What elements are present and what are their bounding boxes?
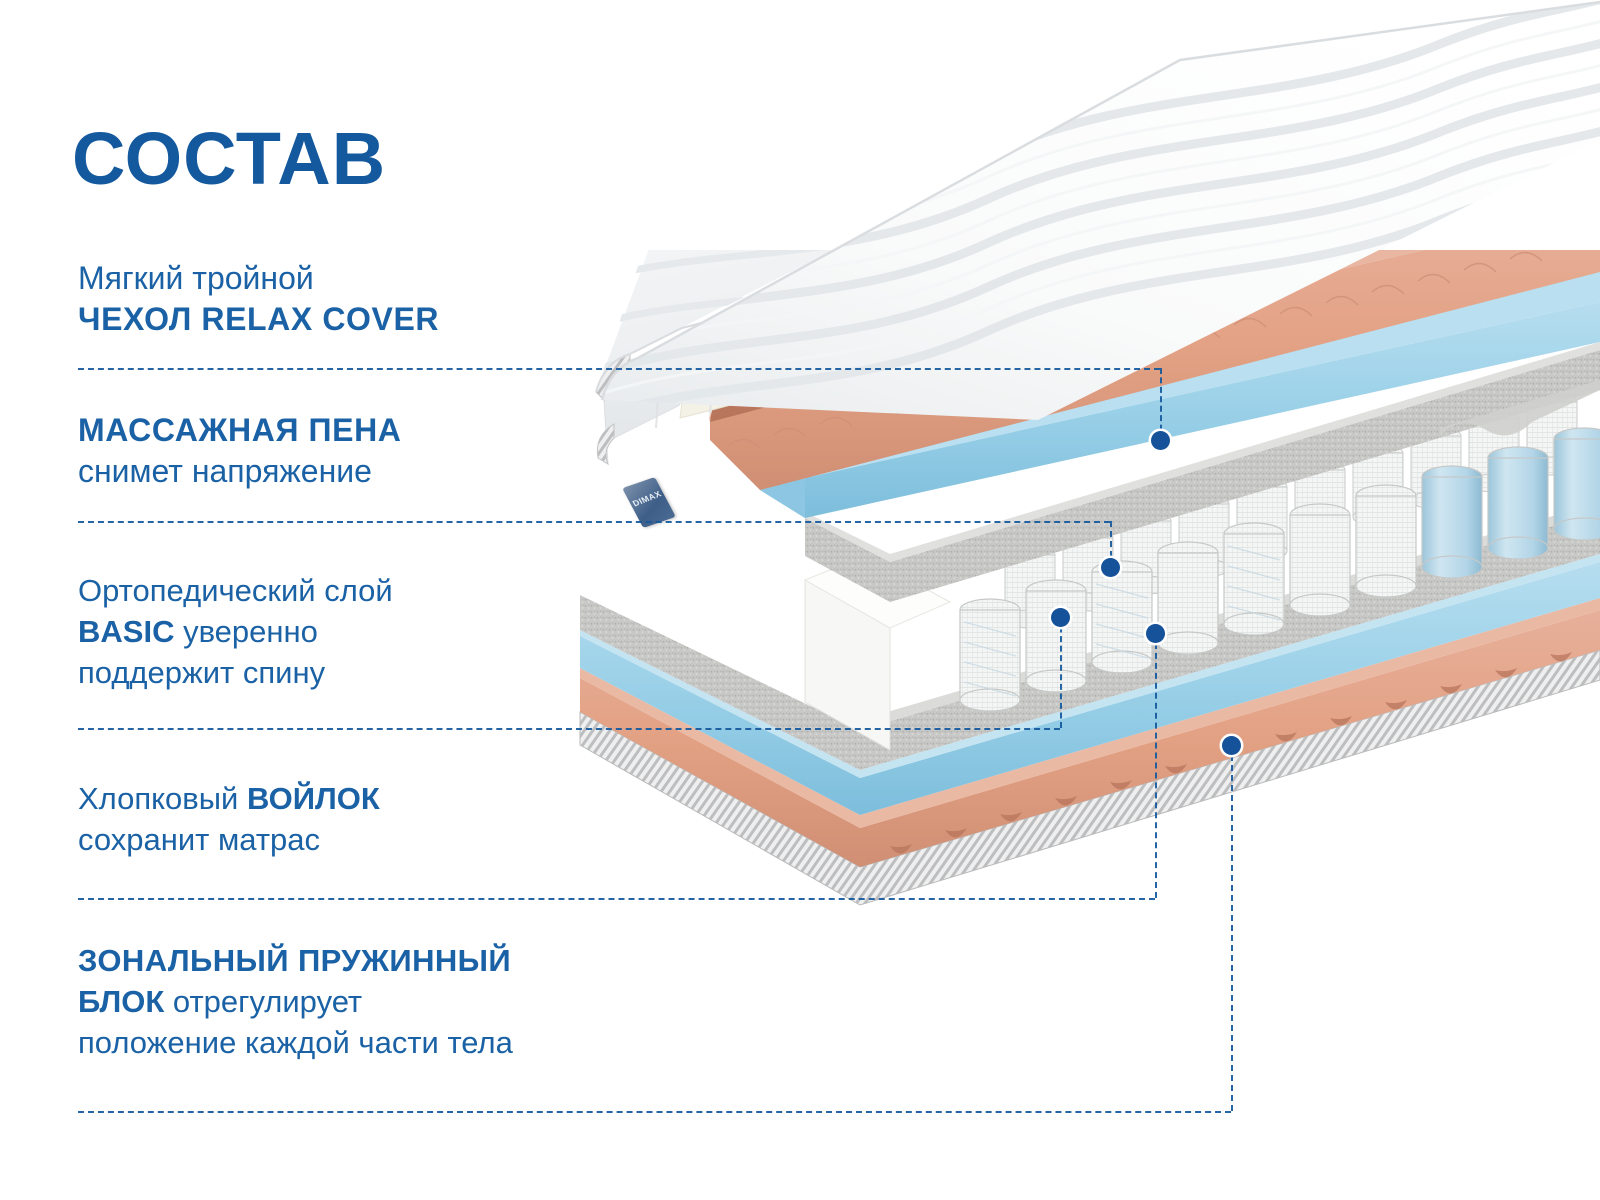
callout-spring-line3: положение каждой части тела: [78, 1022, 513, 1063]
page-title: СОСТАВ: [72, 122, 386, 196]
brand-label: DIMAX: [628, 488, 665, 509]
mattress-quilted-top: [560, 0, 1600, 620]
callout-felt-line2: сохранит матрас: [78, 819, 380, 860]
callout-spring-line2-rest: отрегулирует: [164, 984, 362, 1019]
divider-spring-block: [78, 1111, 1231, 1113]
callout-cover-line1: Мягкий тройной: [78, 258, 439, 299]
point-spring-block: [1222, 736, 1241, 755]
callout-felt-line1-pre: Хлопковый: [78, 781, 247, 816]
leader-cover-vertical: [1160, 368, 1162, 440]
callout-basic-line1: Ортопедический слой: [78, 570, 393, 611]
point-massage-foam: [1101, 558, 1120, 577]
callout-cover-line2: ЧЕХОЛ RELAX COVER: [78, 299, 439, 340]
leader-basic-vertical: [1060, 617, 1062, 728]
callout-cotton-felt: Хлопковый ВОЙЛОК сохранит матрас: [78, 778, 380, 860]
infographic-canvas: СОСТАВ: [0, 0, 1600, 1200]
callout-felt-keyword: ВОЙЛОК: [247, 781, 380, 816]
callout-foam-line1: МАССАЖНАЯ ПЕНА: [78, 410, 402, 451]
point-cover: [1151, 431, 1170, 450]
callout-spring-line1: ЗОНАЛЬНЫЙ ПРУЖИННЫЙ: [78, 940, 513, 981]
divider-massage-foam: [78, 521, 1110, 523]
callout-spring-keyword: БЛОК: [78, 984, 164, 1019]
point-cotton-felt: [1146, 624, 1165, 643]
callout-basic-layer: Ортопедический слой BASIC уверенно подде…: [78, 570, 393, 693]
callout-spring-block: ЗОНАЛЬНЫЙ ПРУЖИННЫЙ БЛОК отрегулирует по…: [78, 940, 513, 1063]
point-basic-layer: [1051, 608, 1070, 627]
callout-relax-cover: Мягкий тройной ЧЕХОЛ RELAX COVER: [78, 258, 439, 340]
divider-basic-layer: [78, 728, 1060, 730]
leader-spring-vertical: [1231, 745, 1233, 1111]
divider-cotton-felt: [78, 898, 1155, 900]
divider-cover: [78, 368, 1160, 370]
callout-massage-foam: МАССАЖНАЯ ПЕНА снимет напряжение: [78, 410, 402, 492]
callout-basic-keyword: BASIC: [78, 614, 174, 649]
callout-basic-line2-rest: уверенно: [174, 614, 317, 649]
leader-felt-vertical: [1155, 633, 1157, 898]
callout-basic-line3: поддержит спину: [78, 652, 393, 693]
callout-foam-line2: снимет напряжение: [78, 451, 402, 492]
